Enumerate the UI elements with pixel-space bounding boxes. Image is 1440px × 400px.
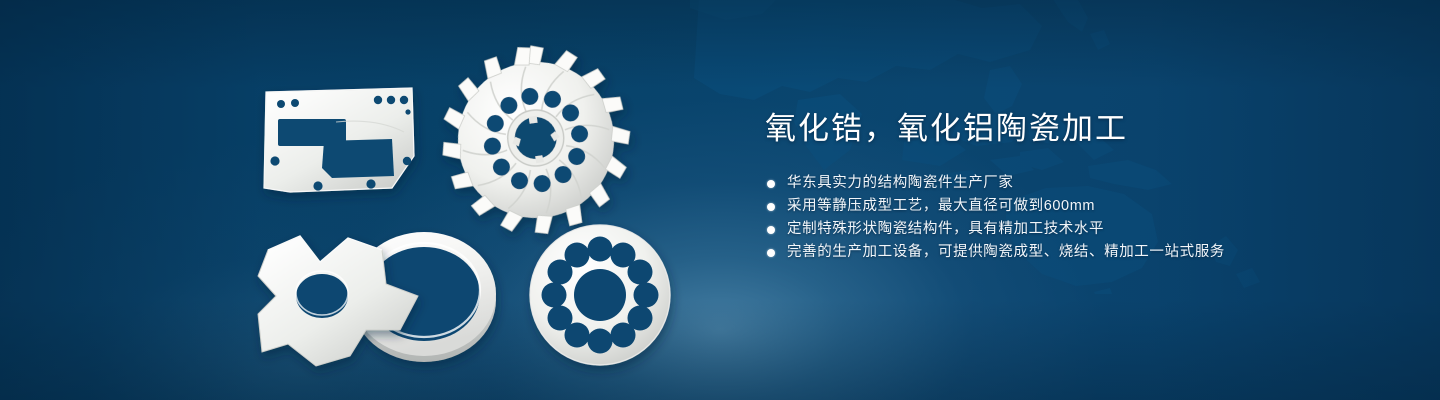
bullet-dot-icon [767, 180, 775, 188]
bullet-dot-icon [767, 203, 775, 211]
bullet-dot-icon [767, 226, 775, 234]
page-title: 氧化锆，氧化铝陶瓷加工 [765, 108, 1385, 150]
list-item: 完善的生产加工设备，可提供陶瓷成型、烧结、精加工一站式服务 [765, 241, 1385, 264]
ceramic-machined-plate [264, 88, 414, 192]
ceramic-impeller-disc [428, 32, 643, 248]
list-item-label: 定制特殊形状陶瓷结构件，具有精加工技术水平 [787, 218, 1104, 241]
list-item-label: 华东具实力的结构陶瓷件生产厂家 [787, 172, 1014, 195]
promo-banner: 氧化锆，氧化铝陶瓷加工 华东具实力的结构陶瓷件生产厂家 采用等静压成型工艺，最大… [0, 0, 1440, 400]
bullet-dot-icon [767, 249, 775, 257]
list-item: 定制特殊形状陶瓷结构件，具有精加工技术水平 [765, 218, 1385, 241]
product-photo-group [0, 0, 720, 400]
banner-copy: 氧化锆，氧化铝陶瓷加工 华东具实力的结构陶瓷件生产厂家 采用等静压成型工艺，最大… [765, 108, 1385, 264]
list-item: 华东具实力的结构陶瓷件生产厂家 [765, 172, 1385, 195]
list-item: 采用等静压成型工艺，最大直径可做到600mm [765, 195, 1385, 218]
list-item-label: 采用等静压成型工艺，最大直径可做到600mm [787, 195, 1095, 218]
list-item-label: 完善的生产加工设备，可提供陶瓷成型、烧结、精加工一站式服务 [787, 241, 1225, 264]
ceramic-perforated-disc [530, 225, 670, 365]
feature-list: 华东具实力的结构陶瓷件生产厂家 采用等静压成型工艺，最大直径可做到600mm 定… [765, 172, 1385, 264]
